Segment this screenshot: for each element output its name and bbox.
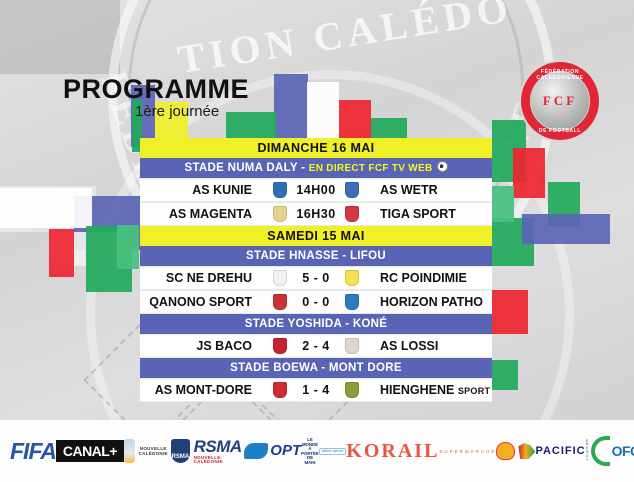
home-club-crest-icon [273, 338, 287, 354]
watermark-shape [0, 0, 120, 74]
match-row[interactable]: QANONO SPORT0 - 0HORIZON PATHO [140, 290, 492, 314]
match-result: 1 - 4 [294, 383, 338, 397]
match-center: 14H00 [260, 182, 372, 198]
away-team-name: TIGA SPORT [372, 207, 492, 221]
sponsor-fifa[interactable]: FIFA [10, 438, 56, 465]
match-row[interactable]: AS MONT-DORE1 - 4HIENGHENE SPORT [140, 378, 492, 402]
rsma-shield-icon: RSMA [171, 439, 189, 463]
match-center: 16H30 [260, 206, 372, 222]
decor-block [307, 82, 339, 142]
opt-bird-icon [244, 443, 268, 459]
match-result: 0 - 0 [294, 295, 338, 309]
stadium-banner: STADE BOEWA - MONT DORE [140, 358, 492, 378]
leaf-icon [518, 443, 535, 459]
poster-canvas: TION CALÉDO FÉDÉ NNE PROGRAMME 1ère jour… [0, 0, 634, 482]
home-team-name: JS BACO [140, 339, 260, 353]
football-icon [437, 161, 448, 172]
decor-block [49, 229, 74, 277]
match-center: 2 - 4 [260, 338, 372, 354]
away-club-crest-icon [345, 382, 359, 398]
match-row[interactable]: AS KUNIE14H00AS WETR [140, 178, 492, 202]
decor-block [492, 360, 518, 390]
away-club-crest-icon [345, 270, 359, 286]
nc-mark-icon [124, 439, 135, 463]
home-club-crest-icon [273, 206, 287, 222]
sponsor-bar: FIFA CANAL+ NOUVELLE CALÉDONIE RSMA RSMA… [0, 420, 634, 482]
shell-icon [496, 442, 515, 460]
sponsor-ofc[interactable]: OFC [591, 436, 634, 466]
stadium-name: STADE BOEWA - MONT DORE [230, 362, 402, 374]
match-center: 5 - 0 [260, 270, 372, 286]
match-result: 2 - 4 [294, 339, 338, 353]
match-row[interactable]: SC NE DREHU5 - 0RC POINDIMIE [140, 266, 492, 290]
date-banner: SAMEDI 15 MAI [140, 226, 492, 246]
home-club-crest-icon [273, 294, 287, 310]
stadium-banner: STADE NUMA DALY - EN DIRECT FCF TV WEB [140, 158, 492, 178]
home-team-name: AS MAGENTA [140, 207, 260, 221]
away-team-main: AS WETR [380, 183, 438, 197]
date-banner: DIMANCHE 16 MAI [140, 138, 492, 158]
decor-block [492, 186, 514, 222]
match-result: 14H00 [294, 183, 338, 197]
match-center: 0 - 0 [260, 294, 372, 310]
away-team-main: AS LOSSI [380, 339, 438, 353]
sponsor-korail[interactable]: KORAIL SUPERMARCHÉ [346, 441, 496, 461]
match-result: 5 - 0 [294, 271, 338, 285]
live-broadcast-label: EN DIRECT FCF TV WEB [309, 163, 433, 174]
crest-initials: FCF [519, 93, 601, 109]
away-team-main: TIGA SPORT [380, 207, 456, 221]
sponsor-pacific-energy[interactable]: PACIFIC E N E R G Y [496, 440, 590, 463]
decor-block [492, 290, 528, 334]
decor-block [274, 74, 308, 146]
away-team-name: AS WETR [372, 183, 492, 197]
home-team-name: AS MONT-DORE [140, 383, 260, 397]
away-team-name: HORIZON PATHO [372, 295, 492, 309]
sponsor-nouvelle-caledonie[interactable]: NOUVELLE CALÉDONIE [124, 439, 171, 463]
stadium-name: STADE YOSHIDA - KONÉ [245, 318, 388, 330]
decor-block [513, 148, 545, 198]
away-team-main: RC POINDIMIE [380, 271, 467, 285]
sponsor-canal-plus[interactable]: CANAL+ [56, 440, 124, 462]
match-result: 16H30 [294, 207, 338, 221]
away-team-name: HIENGHENE SPORT [372, 383, 492, 397]
away-team-suffix: SPORT [458, 386, 491, 396]
ofc-arc-icon [591, 436, 610, 466]
home-team-name: SC NE DREHU [140, 271, 260, 285]
decor-block [0, 188, 92, 228]
home-club-crest-icon [273, 270, 287, 286]
decor-block [522, 214, 610, 244]
sponsor-opt[interactable]: OPT LE MONDE À PORTÉE DE MAIN office.opt… [244, 437, 346, 465]
home-club-crest-icon [273, 382, 287, 398]
home-team-name: QANONO SPORT [140, 295, 260, 309]
away-team-main: HORIZON PATHO [380, 295, 483, 309]
away-club-crest-icon [345, 294, 359, 310]
decor-block [117, 225, 139, 269]
stadium-banner: STADE HNASSE - LIFOU [140, 246, 492, 266]
stadium-name: STADE NUMA DALY - [184, 162, 305, 174]
federation-crest-icon: FÉDÉRATION CALÉDONIENNE FCF DE FOOTBALL [519, 60, 601, 142]
away-club-crest-icon [345, 182, 359, 198]
away-club-crest-icon [345, 338, 359, 354]
match-row[interactable]: AS MAGENTA16H30TIGA SPORT [140, 202, 492, 226]
stadium-name: STADE HNASSE - LIFOU [246, 250, 386, 262]
away-club-crest-icon [345, 206, 359, 222]
away-team-name: AS LOSSI [372, 339, 492, 353]
page-title: PROGRAMME [63, 74, 249, 105]
stadium-banner: STADE YOSHIDA - KONÉ [140, 314, 492, 334]
match-center: 1 - 4 [260, 382, 372, 398]
away-team-name: RC POINDIMIE [372, 271, 492, 285]
home-team-name: AS KUNIE [140, 183, 260, 197]
crest-arc-top: FÉDÉRATION CALÉDONIENNE [519, 69, 601, 81]
away-team-main: HIENGHENE [380, 383, 454, 397]
page-subtitle: 1ère journée [135, 103, 219, 120]
match-row[interactable]: JS BACO2 - 4AS LOSSI [140, 334, 492, 358]
crest-arc-bottom: DE FOOTBALL [519, 128, 601, 134]
sponsor-rsma[interactable]: RSMA RSMANOUVELLE-CALÉDONIE [171, 438, 244, 465]
match-schedule-board: DIMANCHE 16 MAISTADE NUMA DALY - EN DIRE… [140, 138, 492, 402]
home-club-crest-icon [273, 182, 287, 198]
